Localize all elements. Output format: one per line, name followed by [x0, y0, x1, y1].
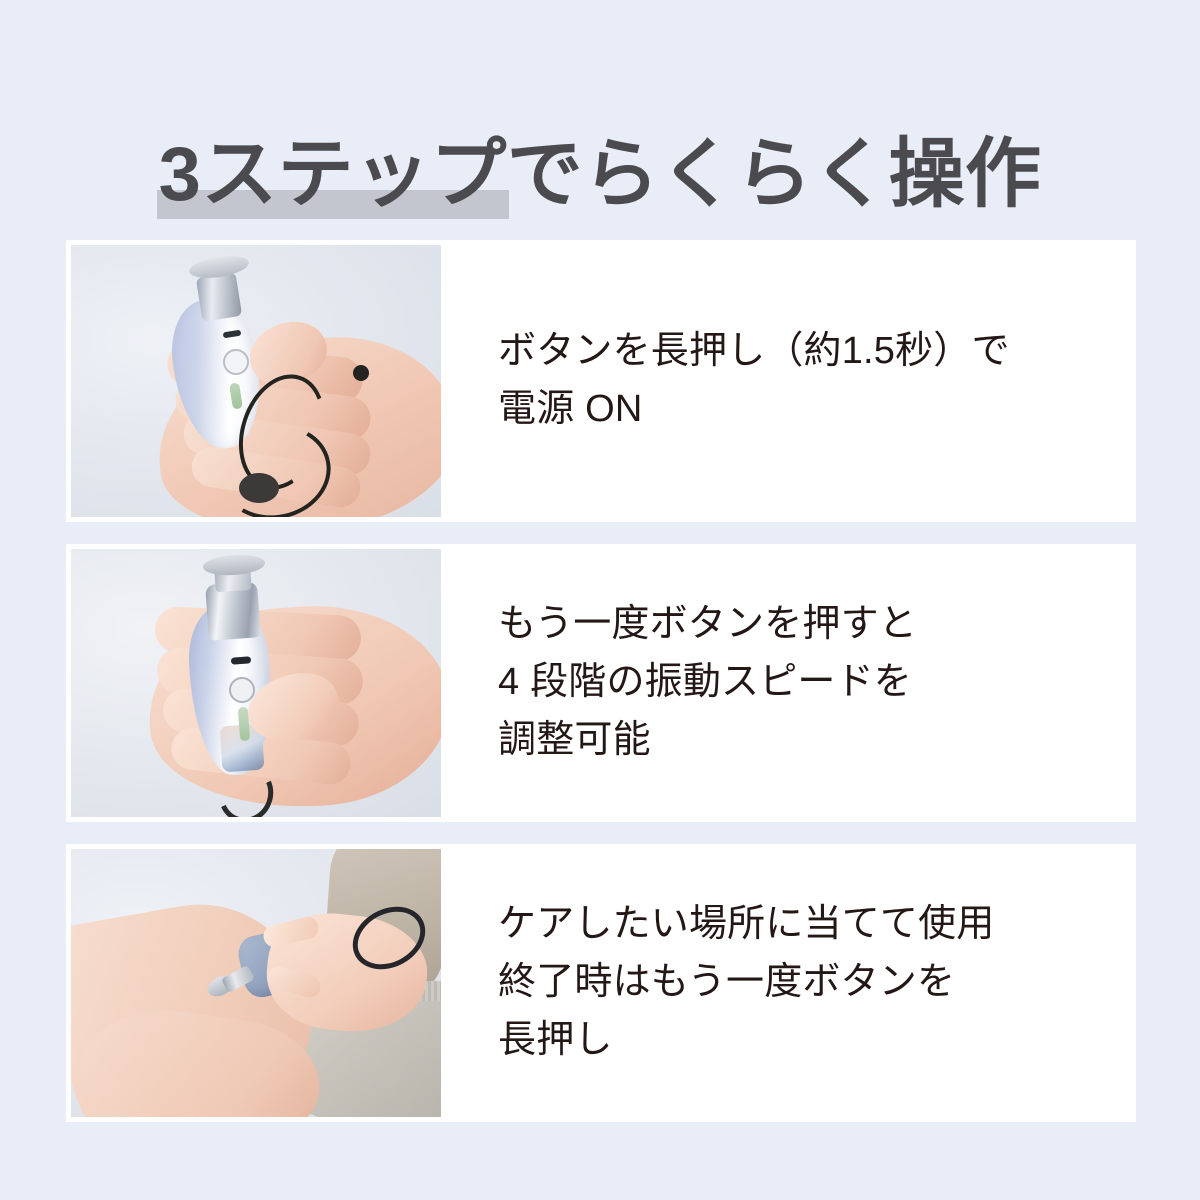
wrist-strap-toggle [239, 473, 279, 503]
step-card-1: ボタンを長押し（約1.5秒）で 電源 ON [66, 240, 1136, 522]
step-1-photo [71, 245, 441, 517]
step-3-text-block: ケアしたい場所に当てて使用 終了時はもう一度ボタンを 長押し [441, 849, 1131, 1117]
step-2-line-3: 調整可能 [498, 712, 1113, 770]
step-3-line-1: ケアしたい場所に当てて使用 [498, 896, 1113, 954]
step-card-2: もう一度ボタンを押すと 4 段階の振動スピードを 調整可能 [66, 544, 1136, 822]
step-2-line-2: 4 段階の振動スピードを [498, 654, 1113, 712]
hand-holding-device-speed-button-illustration [71, 549, 441, 817]
step-card-3: ケアしたい場所に当てて使用 終了時はもう一度ボタンを 長押し [66, 844, 1136, 1122]
device-chrome-neck [196, 272, 242, 322]
page-title-highlight-text: 3ステップ [159, 132, 507, 217]
step-2-line-1: もう一度ボタンを押すと [498, 596, 1113, 654]
step-1-line-1: ボタンを長押し（約1.5秒）で [498, 323, 1113, 381]
wrist-strap-knot [353, 365, 369, 381]
device-usb-port [231, 656, 251, 664]
device-applied-to-thigh-illustration [71, 849, 441, 1117]
step-1-line-2: 電源 ON [498, 381, 1113, 439]
page-title-rest: でらくらく操作 [507, 132, 1042, 217]
step-2-photo [71, 549, 441, 817]
steps-list: ボタンを長押し（約1.5秒）で 電源 ON [66, 240, 1136, 1122]
page-title: 3ステップでらくらく操作 [159, 137, 1042, 213]
step-2-text-block: もう一度ボタンを押すと 4 段階の振動スピードを 調整可能 [441, 549, 1131, 817]
page-title-highlight: 3ステップ [159, 137, 507, 213]
step-3-photo [71, 849, 441, 1117]
page-title-area: 3ステップでらくらく操作 [0, 86, 1200, 186]
step-1-text-block: ボタンを長押し（約1.5秒）で 電源 ON [441, 245, 1131, 517]
step-3-line-2: 終了時はもう一度ボタンを [498, 954, 1113, 1012]
step-3-line-3: 長押し [498, 1012, 1113, 1070]
hand-holding-device-power-button-illustration [71, 245, 441, 517]
